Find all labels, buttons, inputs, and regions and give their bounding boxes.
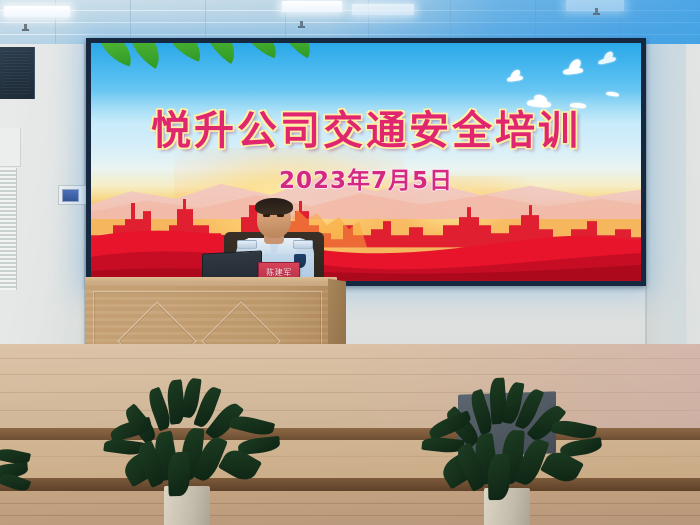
white-dove-icon	[505, 71, 527, 85]
green-leaf-ribbon-icon	[91, 43, 321, 85]
recessed-light-panel-icon	[282, 1, 342, 12]
sprinkler-head-icon	[595, 8, 598, 15]
recessed-light-panel-icon	[352, 4, 414, 15]
recessed-light-panel-icon	[4, 6, 70, 17]
white-dove-icon	[561, 61, 587, 79]
potted-plant-right	[418, 378, 608, 525]
led-display-screen: 悦升公司交通安全培训 2023年7月5日	[91, 43, 641, 281]
epaulette-right	[293, 240, 313, 249]
red-dune-landscape	[91, 219, 641, 281]
potted-plant-edge-sliver	[0, 446, 32, 492]
sprinkler-head-icon	[300, 21, 303, 28]
led-display-bezel: 悦升公司交通安全培训 2023年7月5日	[86, 38, 646, 286]
air-vent-frame	[0, 128, 21, 167]
hair	[255, 198, 293, 215]
control-panel-display	[62, 189, 79, 202]
white-dove-icon	[597, 53, 619, 67]
eye-left	[263, 214, 270, 217]
screen-date: 2023年7月5日	[91, 161, 641, 195]
room-photo-scene: 悦升公司交通安全培训 2023年7月5日 陈建军	[0, 0, 700, 525]
plant-foliage	[98, 378, 288, 494]
wall-screen-glow	[646, 44, 686, 344]
potted-plant-left	[98, 378, 288, 525]
air-vent-icon	[0, 168, 17, 290]
wall-speaker-icon	[0, 47, 35, 99]
plant-foliage	[418, 378, 608, 496]
eye-right	[277, 214, 284, 217]
sprinkler-head-icon	[24, 24, 27, 31]
epaulette-left	[237, 240, 257, 249]
screen-title: 悦升公司交通安全培训	[91, 98, 641, 156]
wall-control-panel-icon[interactable]	[58, 185, 88, 205]
